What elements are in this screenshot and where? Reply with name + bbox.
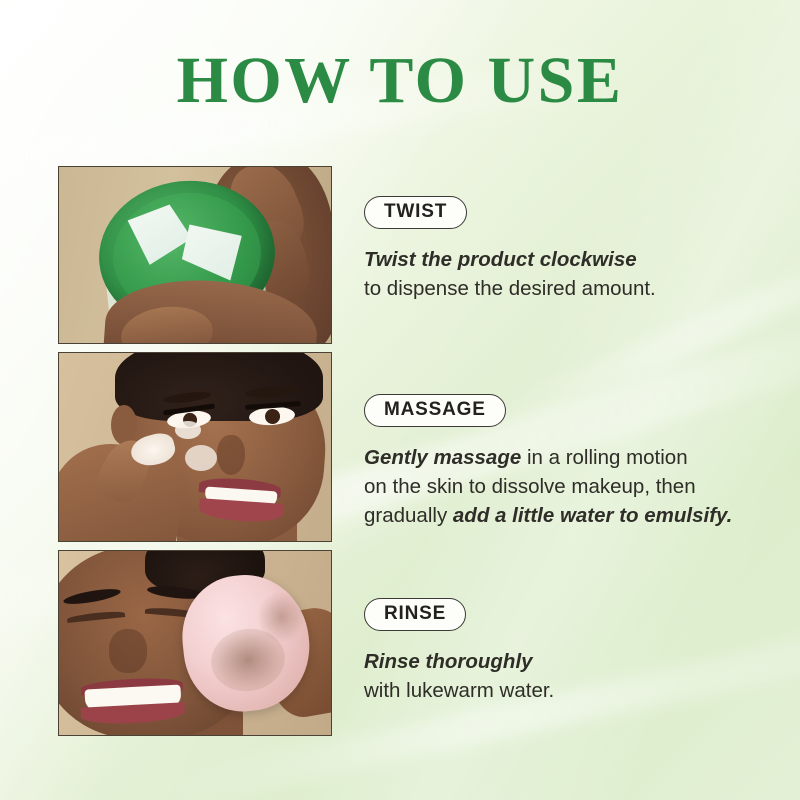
massage-line-1: Gently massage in a rolling motion [364, 443, 764, 472]
massage-photo-illustration [59, 353, 331, 541]
rinse-line-1: Rinse thoroughly [364, 647, 764, 676]
twist-line-1: Twist the product clockwise [364, 245, 764, 274]
twist-product-photo [58, 166, 332, 344]
nose-shape [109, 629, 147, 673]
ear-shape [111, 405, 137, 445]
step-badge-twist: TWIST [364, 196, 467, 229]
massage-line-3-rest: gradually [364, 504, 453, 527]
step-twist: TWIST Twist the product clockwise to dis… [0, 166, 800, 344]
rinse-line-2: with lukewarm water. [364, 676, 764, 705]
page-title: HOW TO USE [0, 48, 800, 114]
twist-line-1-emphasis: Twist the product clockwise [364, 248, 637, 271]
rinse-photo-illustration [59, 551, 331, 735]
rinse-line-1-emphasis: Rinse thoroughly [364, 650, 533, 673]
how-to-use-poster: HOW TO USE TWIST [0, 0, 800, 800]
cream-smear [175, 421, 201, 439]
massage-line-3-emphasis: add a little water to emulsify. [453, 504, 732, 527]
massage-line-1-emphasis: Gently massage [364, 446, 521, 469]
rinse-description: Rinse thoroughly with lukewarm water. [364, 647, 764, 705]
step-massage: MASSAGE Gently massage in a rolling moti… [0, 352, 800, 542]
massage-line-2: on the skin to dissolve makeup, then [364, 472, 764, 501]
twist-photo-illustration [59, 167, 331, 343]
massage-description: Gently massage in a rolling motion on th… [364, 443, 764, 530]
step-badge-rinse: RINSE [364, 598, 466, 631]
step-badge-massage: MASSAGE [364, 394, 506, 427]
rinse-copy: RINSE Rinse thoroughly with lukewarm wat… [364, 550, 800, 705]
steps-list: TWIST Twist the product clockwise to dis… [0, 166, 800, 736]
massage-product-photo [58, 352, 332, 542]
twist-description: Twist the product clockwise to dispense … [364, 245, 764, 303]
puff-makeup-smudge [257, 591, 305, 643]
twist-line-2: to dispense the desired amount. [364, 274, 764, 303]
cream-smear [185, 445, 217, 471]
step-rinse: RINSE Rinse thoroughly with lukewarm wat… [0, 550, 800, 736]
massage-line-1-rest: in a rolling motion [521, 446, 687, 469]
twist-copy: TWIST Twist the product clockwise to dis… [364, 166, 800, 303]
nose-shape [217, 435, 245, 475]
massage-copy: MASSAGE Gently massage in a rolling moti… [364, 352, 800, 530]
rinse-product-photo [58, 550, 332, 736]
massage-line-3: gradually add a little water to emulsify… [364, 501, 764, 530]
